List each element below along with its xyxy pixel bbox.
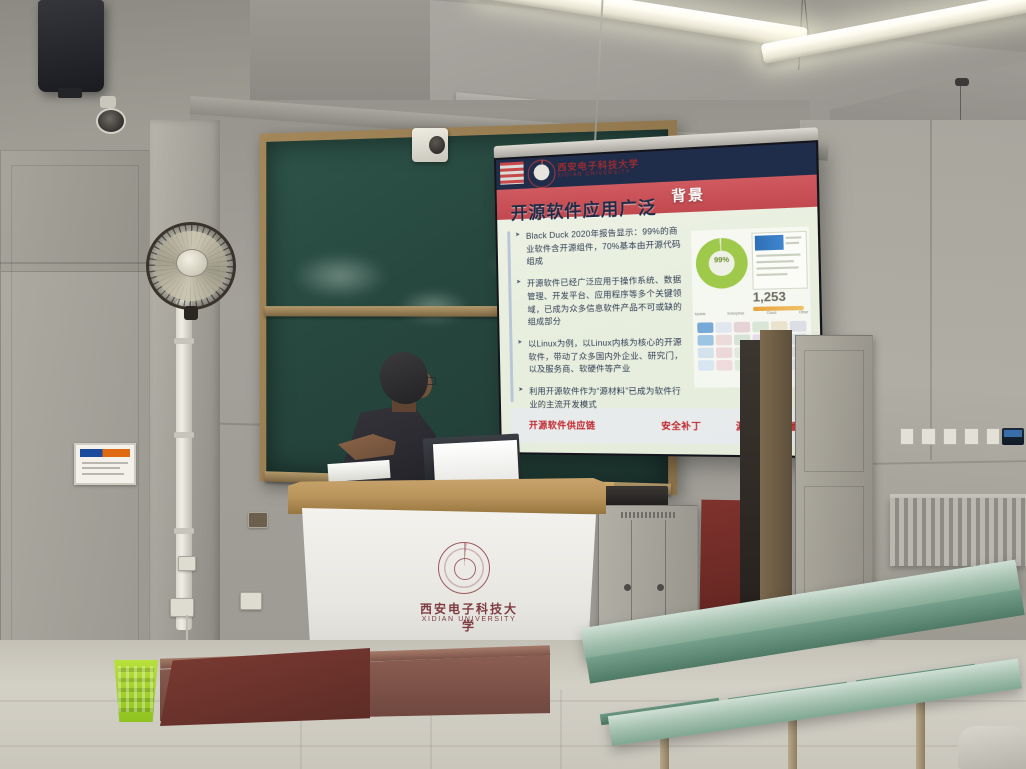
speaker-cone-icon	[429, 136, 445, 154]
pipe-joint	[174, 432, 194, 438]
wall-seam	[930, 120, 932, 460]
logo-cell	[697, 322, 713, 333]
card-line	[757, 273, 788, 275]
control-panel-screen	[1004, 430, 1022, 437]
bullet-text: 利用开源软件作为“源材料”已成为软件行业的主流开发模式	[529, 387, 681, 409]
cabinet-handle[interactable]	[624, 584, 631, 591]
column-header: Mobile	[695, 312, 706, 318]
person-head	[380, 352, 428, 404]
red-step-platform	[160, 648, 370, 726]
notice-text-line	[82, 467, 120, 469]
light-switch[interactable]	[900, 428, 914, 445]
floor-tile-line	[0, 745, 1026, 747]
fan-mount	[184, 306, 198, 320]
security-camera-icon	[96, 108, 126, 134]
wall-socket[interactable]	[178, 556, 196, 571]
logo-cell	[734, 322, 751, 333]
lectern-university-name-en: XIDIAN UNIVERSITY	[414, 616, 524, 623]
slide-title: 开源软件应用广泛	[510, 193, 656, 225]
donut-chart-value: 99%	[696, 256, 748, 265]
slide-bullet: 以Linux为例，以Linux内核为核心的开源软件，带动了众多国内外企业、研究门…	[517, 336, 687, 377]
card-line	[756, 253, 800, 256]
av-control-panel[interactable]	[1002, 428, 1024, 445]
equipment-on-cabinet	[596, 486, 668, 506]
wall-socket[interactable]	[170, 598, 194, 617]
logo-cell	[715, 322, 731, 333]
notice-text-line	[82, 462, 128, 464]
radiator	[890, 498, 1026, 566]
left-wall-panel-inner	[11, 165, 139, 665]
camera-mount	[100, 96, 116, 108]
column-header: Cloud	[767, 311, 777, 318]
infographic-column-headers: Mobile Enterprise Cloud Other	[695, 310, 809, 318]
logo-cell	[716, 360, 732, 371]
column-header: Enterprise	[727, 311, 744, 318]
footer-item: 安全补丁	[661, 419, 702, 433]
university-seal-icon	[438, 542, 490, 594]
glasses-icon	[422, 377, 436, 385]
bullet-text: Black Duck 2020年报告显示：99%的商业软件含开源组件，70%基本…	[526, 226, 681, 266]
waste-basket-pattern	[118, 666, 154, 712]
wall-pipe	[176, 300, 192, 630]
slide-accent-bar	[507, 231, 513, 402]
slide-bullet: Black Duck 2020年报告显示：99%的商业软件含开源组件，70%基本…	[515, 225, 685, 270]
infographic-card-header	[755, 235, 784, 251]
logo-cell	[698, 360, 714, 371]
footer-item: 开源软件供应链	[529, 418, 596, 432]
light-switch[interactable]	[921, 428, 935, 445]
light-switch-group[interactable]	[900, 428, 1000, 444]
lectern-desktop	[288, 478, 606, 514]
card-line	[786, 242, 799, 244]
slide-bullet-list: Black Duck 2020年报告显示：99%的商业软件含开源组件，70%基本…	[515, 225, 689, 422]
notice-text-line	[82, 473, 124, 475]
door-frame	[760, 330, 792, 640]
logo-cell	[697, 335, 713, 346]
column-header: Other	[799, 310, 809, 317]
wall-socket[interactable]	[240, 592, 262, 610]
notice-header-bar	[80, 449, 130, 457]
logo-cell	[716, 347, 732, 358]
light-switch[interactable]	[943, 428, 957, 445]
light-switch[interactable]	[964, 428, 978, 445]
pipe-joint	[174, 528, 194, 534]
cabinet-vent	[621, 512, 677, 518]
wall-speaker	[38, 0, 104, 92]
slide-section-label: 背景	[671, 184, 705, 206]
card-line	[756, 260, 794, 263]
logo-cell	[698, 348, 714, 359]
bullet-text: 以Linux为例，以Linux内核为核心的开源软件，带动了众多国内外企业、研究门…	[528, 337, 683, 374]
wall-socket[interactable]	[248, 512, 268, 528]
classroom-speaker	[412, 128, 448, 162]
board-glare	[292, 252, 388, 300]
cabinet-handle[interactable]	[657, 584, 664, 591]
left-wall-panel	[0, 150, 150, 682]
light-switch[interactable]	[986, 428, 1000, 445]
wall-speaker-mount	[58, 88, 82, 98]
logo-cell	[790, 321, 807, 332]
wall-notice-plate	[74, 443, 136, 485]
logo-cell	[716, 335, 732, 346]
wall-fan[interactable]	[146, 222, 236, 310]
door-panel	[804, 350, 864, 472]
slide-flag-graphic	[500, 162, 524, 185]
ceiling-speaker-icon	[955, 78, 969, 86]
chair	[958, 726, 1026, 769]
classroom-scene: 西安电子科技大学 XIDIAN UNIVERSITY 背景 开源软件应用广泛 B…	[0, 0, 1026, 769]
floor-tile-line	[560, 690, 562, 769]
card-line	[786, 236, 802, 238]
lectern-papers	[327, 460, 390, 482]
bullet-text: 开源软件已经广泛应用于操作系统、数据管理、开发平台、应用程序等多个关键领域，已成…	[527, 275, 682, 327]
pipe-joint	[174, 338, 194, 344]
card-line	[757, 266, 799, 269]
infographic-card	[751, 231, 808, 290]
infographic-big-number: 1,253	[753, 289, 786, 305]
slide-bullet: 开源软件已经广泛应用于操作系统、数据管理、开发平台、应用程序等多个关键领域，已成…	[516, 274, 687, 330]
wall-seam	[0, 262, 150, 264]
